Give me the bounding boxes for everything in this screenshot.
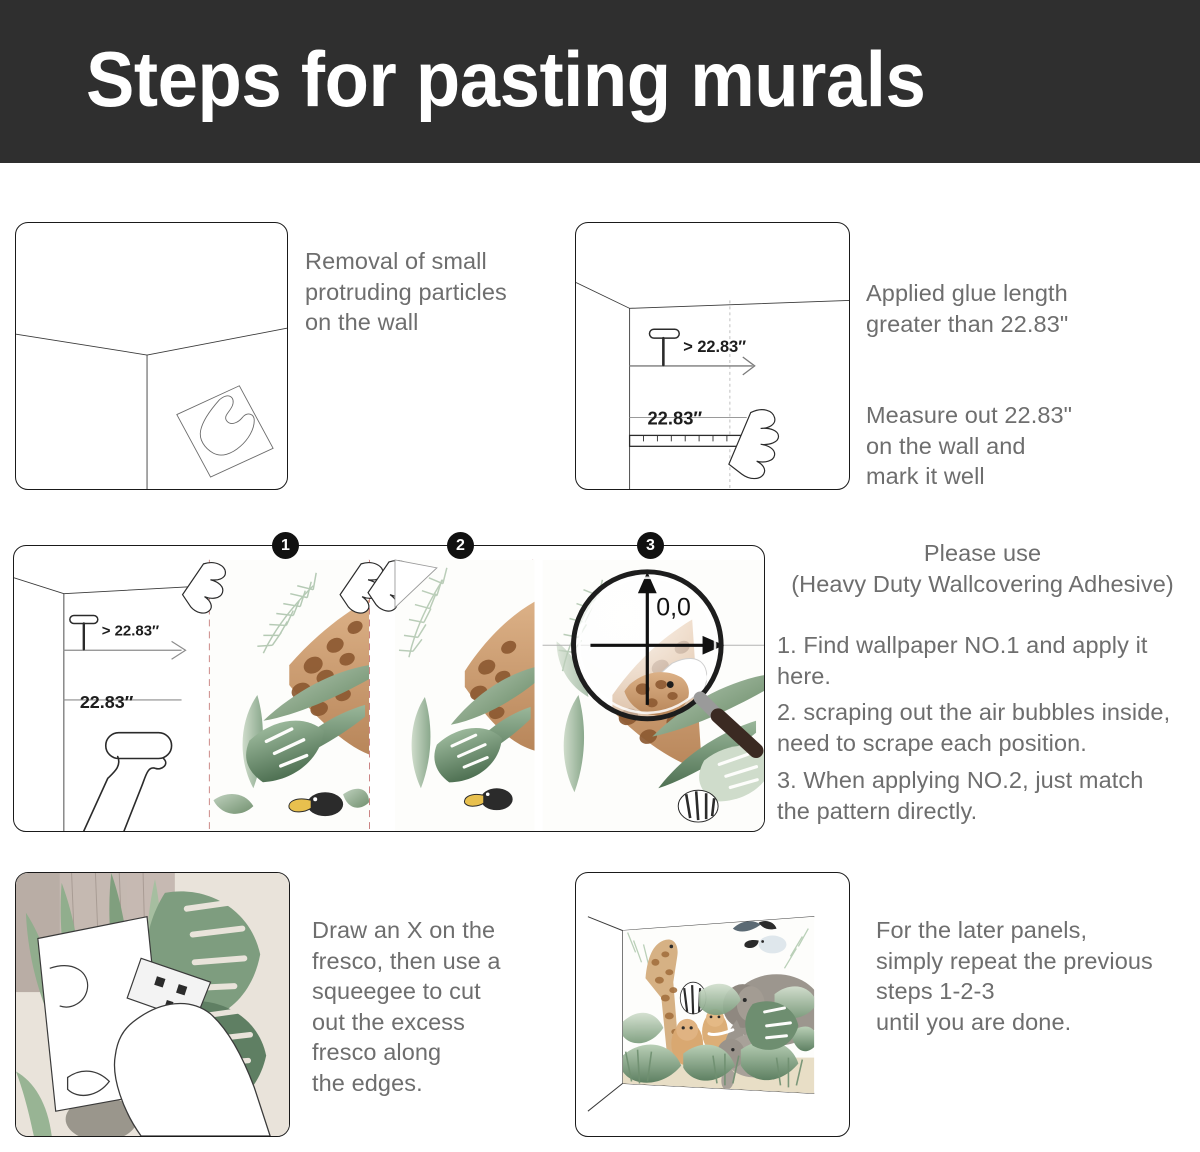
caption-measure-mark: Measure out 22.83" on the wall and mark … [866,400,1186,492]
measure-illustration: > 22.83″ 22.83″ [576,223,849,489]
caption-trim-excess: Draw an X on the fresco, then use a sque… [312,915,552,1098]
panel-apply-wallpaper: > 22.83″ 22.83″ [13,545,765,832]
apply-illustration: > 22.83″ 22.83″ [14,546,764,831]
header-bar: Steps for pasting murals [0,0,1200,163]
trim-illustration [16,873,289,1136]
svg-text:22.83″: 22.83″ [80,692,134,712]
instruction-sheet: Steps for pasting murals Removal of smal… [0,0,1200,1152]
panel-trim-excess [15,872,290,1137]
caption-adhesive-note: Please use (Heavy Duty Wallcovering Adhe… [770,538,1195,599]
panel-wall-prep [15,222,288,490]
caption-step-2: 2. scraping out the air bubbles inside, … [777,697,1197,758]
step-badge-1: 1 [272,532,299,559]
caption-step-1: 1. Find wallpaper NO.1 and apply it here… [777,630,1197,691]
wall-corner-illustration [16,223,287,489]
panel-measure-glue: > 22.83″ 22.83″ [575,222,850,490]
caption-wall-prep: Removal of small protruding particles on… [305,246,555,338]
caption-glue-length: Applied glue length greater than 22.83" [866,278,1186,339]
origin-label: 0,0 [656,594,691,622]
step-badge-3: 3 [637,532,664,559]
caption-finished-room: For the later panels, simply repeat the … [876,915,1196,1037]
panel-finished-room [575,872,850,1137]
caption-step-3: 3. When applying NO.2, just match the pa… [777,765,1197,826]
finished-room-illustration [576,873,849,1136]
svg-text:> 22.83″: > 22.83″ [102,622,159,639]
step-badge-2: 2 [447,532,474,559]
page-title: Steps for pasting murals [86,40,925,118]
tape-length-label: 22.83″ [647,407,702,428]
roller-length-label: > 22.83″ [683,338,746,356]
